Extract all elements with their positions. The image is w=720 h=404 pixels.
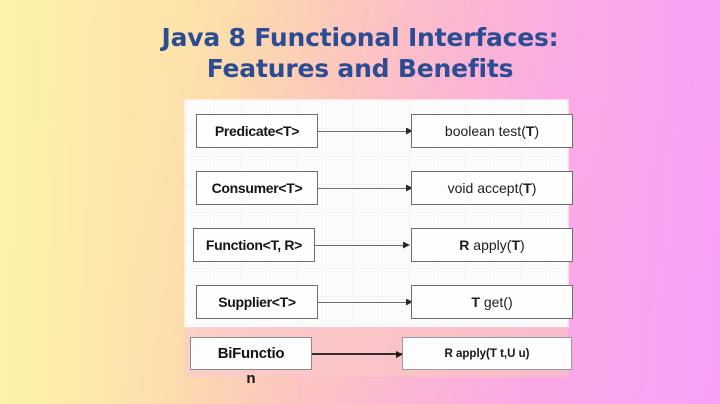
slide-canvas: Java 8 Functional Interfaces: Features a… bbox=[0, 0, 720, 404]
arrow-line bbox=[318, 302, 411, 303]
arrow-line bbox=[312, 353, 402, 355]
title-line-1: Java 8 Functional Interfaces: bbox=[0, 22, 720, 53]
method-box: boolean test(T) bbox=[411, 114, 573, 148]
interface-label: Predicate<T> bbox=[215, 123, 299, 139]
connector-arrow bbox=[315, 244, 408, 246]
interface-box: Predicate<T> bbox=[196, 114, 318, 148]
interface-label: Consumer<T> bbox=[212, 180, 303, 196]
interface-label: BiFunctio bbox=[218, 345, 284, 362]
method-suffix: get() bbox=[480, 294, 513, 310]
method-suffix: ) bbox=[534, 123, 539, 139]
interface-box: Function<T, R> bbox=[193, 228, 315, 262]
connector-arrow bbox=[318, 130, 411, 132]
method-generic: R bbox=[459, 237, 469, 253]
interface-label: Supplier<T> bbox=[218, 294, 296, 310]
method-box: R apply(T) bbox=[411, 228, 573, 262]
title-line-2: Features and Benefits bbox=[0, 53, 720, 84]
arrow-line bbox=[318, 188, 411, 189]
diagram-row: Function<T, R> R apply(T) bbox=[193, 228, 573, 262]
diagram-row: Predicate<T> boolean test(T) bbox=[196, 114, 573, 148]
arrow-line bbox=[315, 245, 408, 246]
method-generic: T bbox=[523, 180, 532, 196]
diagram-row-bifunction: BiFunctio n R apply(T t,U u) bbox=[190, 337, 573, 371]
method-label: R apply(T t,U u) bbox=[445, 348, 530, 360]
arrow-head-icon bbox=[403, 242, 410, 249]
method-box: T get() bbox=[411, 285, 573, 319]
diagram-row: Consumer<T> void accept(T) bbox=[196, 171, 573, 205]
method-prefix: void accept( bbox=[448, 180, 523, 196]
connector-arrow bbox=[318, 187, 411, 189]
method-suffix: apply(T) bbox=[469, 237, 524, 253]
interface-box: Consumer<T> bbox=[196, 171, 318, 205]
method-generic: T bbox=[526, 123, 535, 139]
method-generic: T bbox=[471, 294, 480, 310]
interface-label: Function<T, R> bbox=[206, 237, 302, 253]
method-box: void accept(T) bbox=[411, 171, 573, 205]
interface-box: BiFunctio bbox=[190, 337, 312, 370]
method-box: R apply(T t,U u) bbox=[402, 337, 572, 370]
method-suffix: ) bbox=[532, 180, 537, 196]
interface-label-overflow: n bbox=[190, 370, 312, 387]
method-prefix: boolean test( bbox=[445, 123, 526, 139]
interface-box: Supplier<T> bbox=[196, 285, 318, 319]
diagram-row: Supplier<T> T get() bbox=[196, 285, 573, 319]
arrow-line bbox=[318, 131, 411, 132]
slide-title: Java 8 Functional Interfaces: Features a… bbox=[0, 22, 720, 84]
connector-arrow bbox=[312, 353, 402, 355]
connector-arrow bbox=[318, 301, 411, 303]
